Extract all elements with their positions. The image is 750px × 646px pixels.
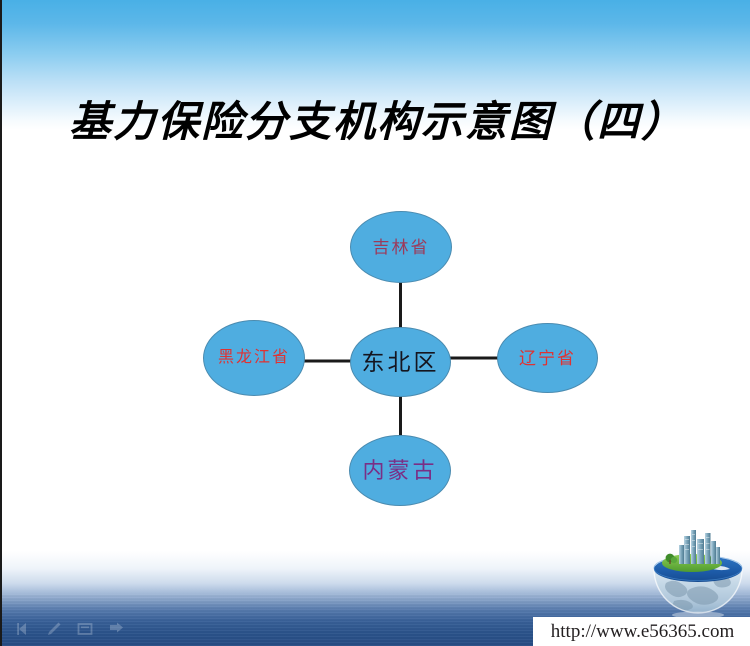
diagram-node-label: 吉林省 xyxy=(373,239,430,256)
diagram-node-neimenggu[interactable]: 内蒙古 xyxy=(349,435,451,506)
diagram-node-label: 辽宁省 xyxy=(519,350,576,367)
presentation-slide: 基力保险分支机构示意图（四） 吉林省 黑龙江省 东北区 辽宁省 内蒙古 xyxy=(0,0,750,646)
previous-slide-icon[interactable] xyxy=(14,620,32,638)
diagram-node-label: 内蒙古 xyxy=(362,460,437,482)
org-structure-diagram: 吉林省 黑龙江省 东北区 辽宁省 内蒙古 xyxy=(2,0,750,646)
diagram-node-dongbei[interactable]: 东北区 xyxy=(350,327,451,397)
watermark-url: http://www.e56365.com xyxy=(551,621,734,643)
diagram-node-jilin[interactable]: 吉林省 xyxy=(350,211,452,283)
globe-city-logo-icon xyxy=(648,527,748,619)
diagram-node-heilongjiang[interactable]: 黑龙江省 xyxy=(203,320,305,396)
diagram-connector-lines xyxy=(2,0,750,646)
diagram-node-liaoning[interactable]: 辽宁省 xyxy=(497,323,598,393)
diagram-node-label: 黑龙江省 xyxy=(218,350,290,366)
next-slide-icon[interactable] xyxy=(107,620,125,638)
pen-icon[interactable] xyxy=(45,620,63,638)
slide-menu-icon[interactable] xyxy=(76,620,94,638)
slideshow-controls xyxy=(14,620,125,638)
watermark-box: http://www.e56365.com xyxy=(533,617,750,646)
diagram-node-label: 东北区 xyxy=(362,351,440,374)
